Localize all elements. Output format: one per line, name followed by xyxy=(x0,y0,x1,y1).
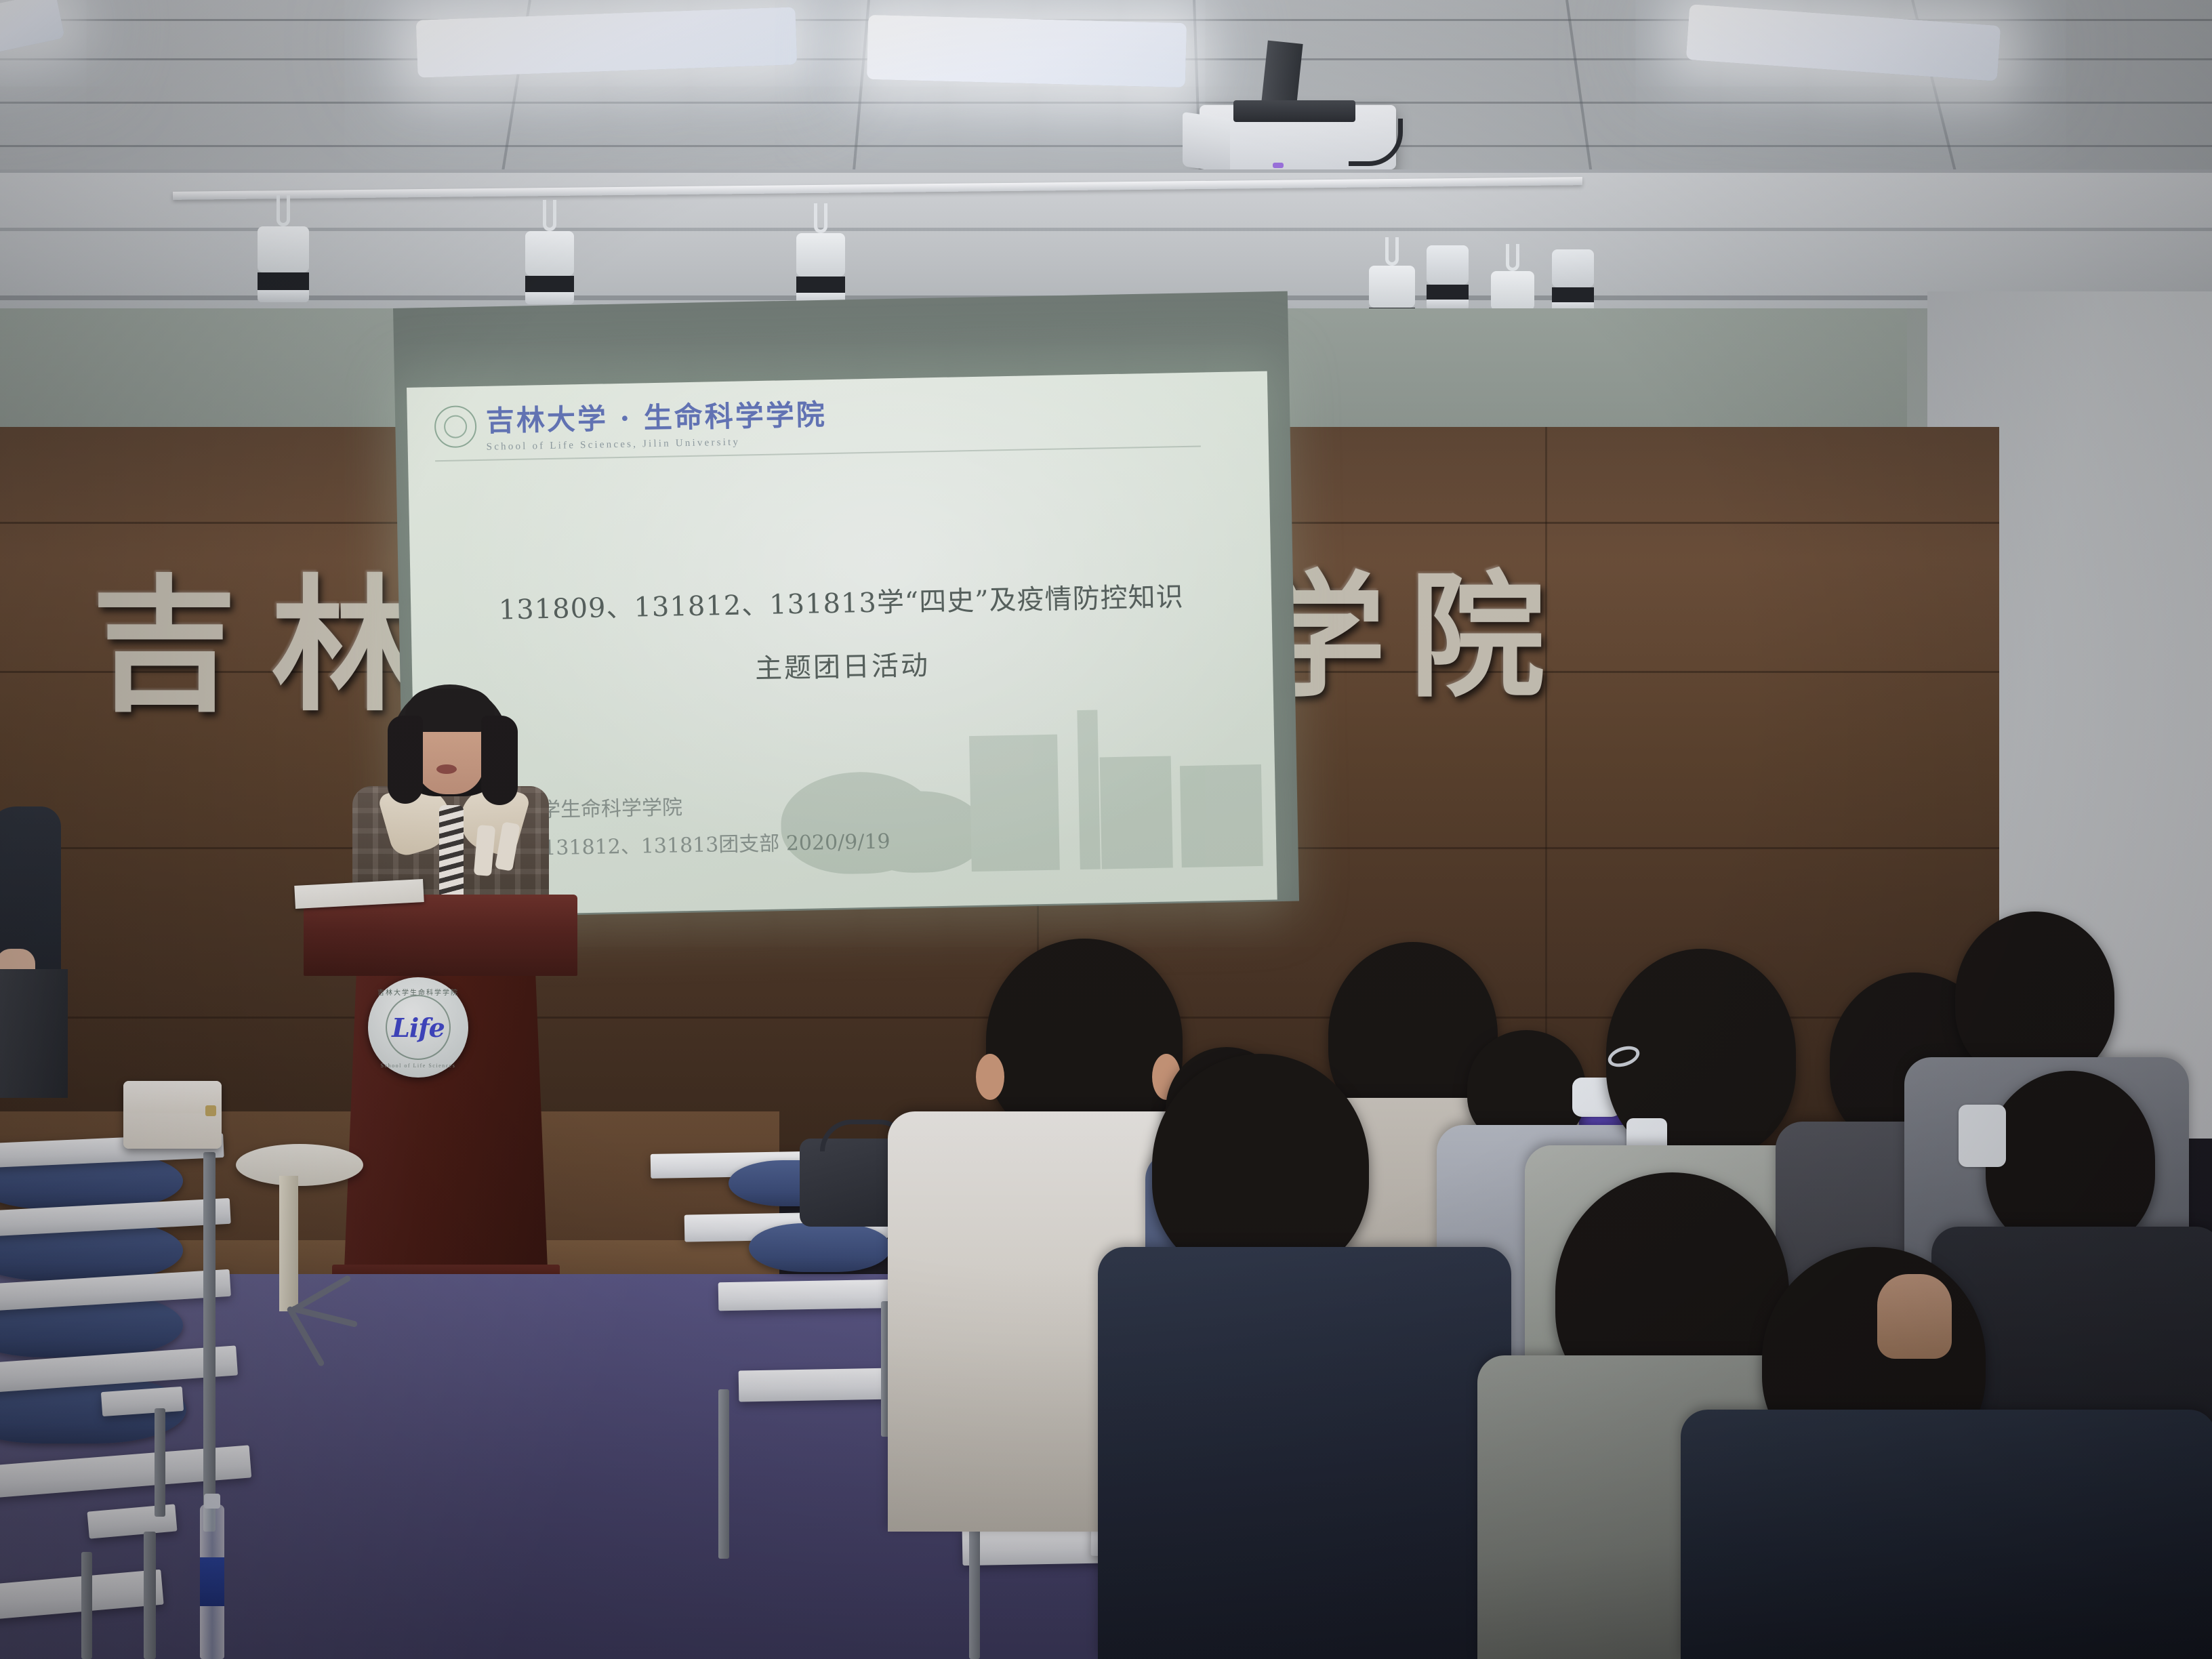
emblem-ring-en: School of Life Sciences xyxy=(368,1063,468,1069)
track-spotlight xyxy=(258,195,309,302)
handbag[interactable] xyxy=(123,1081,222,1149)
stool-seat[interactable] xyxy=(236,1144,363,1186)
ceiling-panel-light xyxy=(867,15,1187,87)
audience-head-foreground xyxy=(1152,1054,1369,1277)
wall-characters-right: 学院 xyxy=(1250,569,1569,705)
emblem-inner-ring: Life xyxy=(386,995,451,1060)
desk-leg xyxy=(144,1532,156,1659)
podium-emblem: 吉林大学生命科学学院 Life School of Life Sciences xyxy=(368,977,468,1078)
audience-head xyxy=(1986,1071,2155,1250)
lectern-podium[interactable]: 吉林大学生命科学学院 Life School of Life Sciences xyxy=(312,895,569,1301)
track-spotlight xyxy=(1552,249,1594,313)
water-bottle[interactable] xyxy=(200,1504,224,1659)
presenter xyxy=(352,684,549,915)
projector-mount-plate xyxy=(1233,100,1355,122)
desk-leg xyxy=(718,1389,729,1559)
track-spotlight xyxy=(796,203,845,305)
audience-torso-foreground xyxy=(1098,1247,1511,1659)
projector-lens-hood xyxy=(1183,112,1230,173)
desk[interactable] xyxy=(718,1279,902,1311)
slide-logo-zh: 吉林大学 · 生命科学学院 xyxy=(485,392,827,440)
stool-base xyxy=(230,1300,366,1347)
desk-leg xyxy=(81,1552,92,1659)
slide-org-logo: 吉林大学 · 生命科学学院 School of Life Sciences, J… xyxy=(434,392,827,454)
presenter-hair-right xyxy=(481,716,518,805)
audience-hand xyxy=(1877,1274,1952,1359)
podium-top xyxy=(304,895,577,976)
audience-torso-foreground xyxy=(1681,1410,2212,1659)
bottle-label xyxy=(200,1557,224,1606)
university-seal-icon xyxy=(434,405,477,448)
presenter-mouth xyxy=(436,764,457,774)
lecture-hall-scene: 吉林 学院 吉林大学 · 生命科学学院 School of Life Scien… xyxy=(0,0,2212,1659)
track-spotlight xyxy=(1427,245,1469,310)
emblem-life-text: Life xyxy=(392,1012,445,1043)
track-spotlight xyxy=(525,200,574,304)
side-cabinet xyxy=(0,969,68,1098)
presenter-hair-left xyxy=(388,716,423,804)
presenter-lanyard xyxy=(439,805,464,907)
desk-leg xyxy=(155,1408,165,1517)
emblem-ring-zh: 吉林大学生命科学学院 xyxy=(368,987,468,997)
audience-ear xyxy=(976,1054,1004,1100)
slide-campus-watermark xyxy=(772,690,1263,876)
projector-status-led xyxy=(1273,163,1284,168)
face-mask xyxy=(1959,1105,2006,1167)
audience-head xyxy=(1955,912,2114,1081)
stool-pole xyxy=(279,1176,298,1311)
desk-leg xyxy=(203,1152,216,1532)
seat-cushion xyxy=(749,1223,891,1272)
